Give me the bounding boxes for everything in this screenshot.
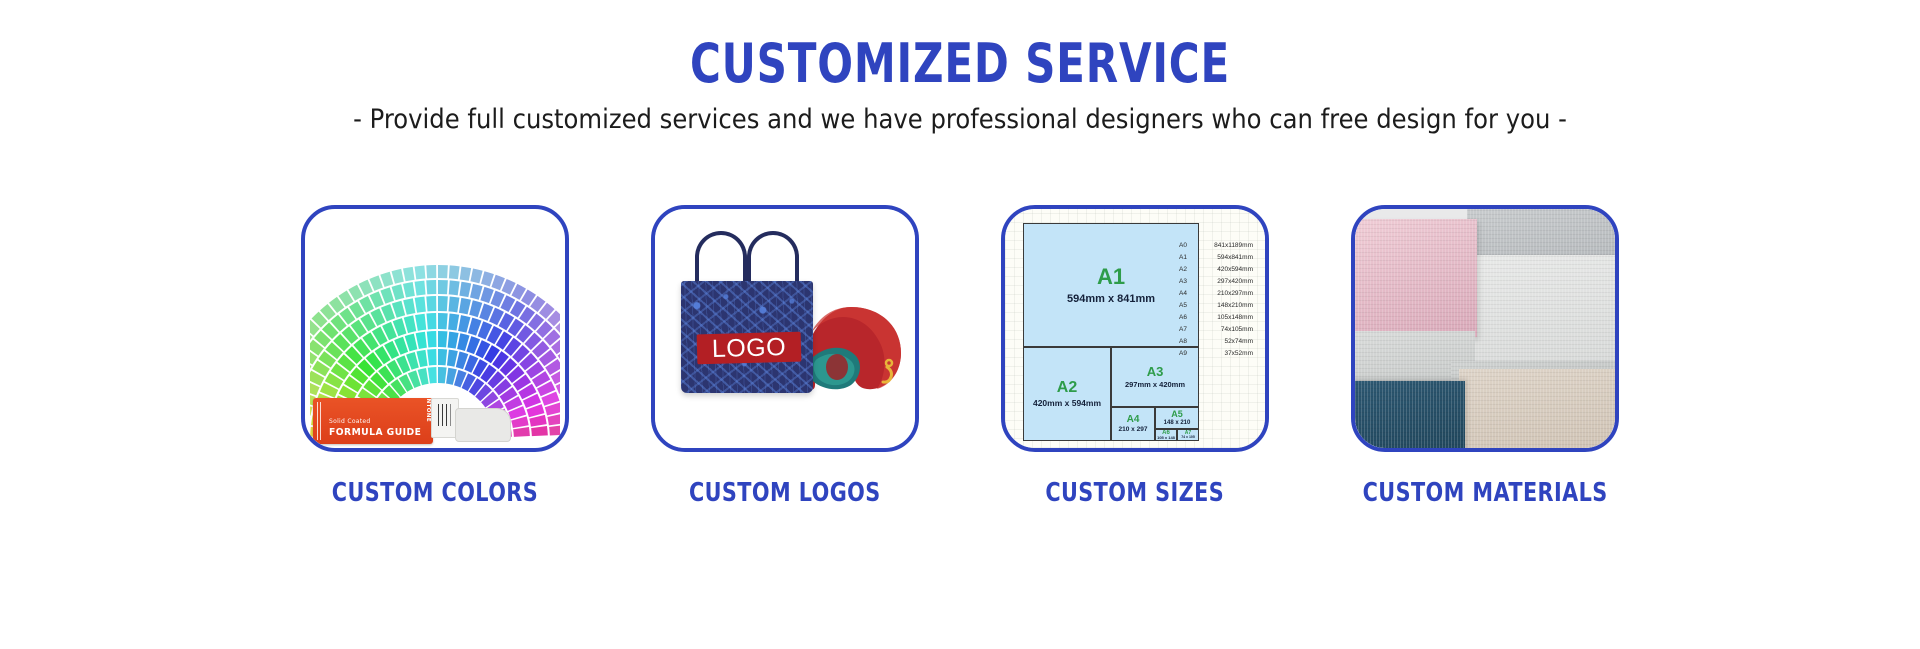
card-label-custom-sizes: CUSTOM SIZES [1046,478,1225,508]
bag-scene: LOGO [655,209,915,448]
legend-code: A3 [1179,279,1195,286]
customized-service-banner: CUSTOMIZED SERVICE - Provide full custom… [0,0,1920,649]
logo-text: LOGO [712,335,787,362]
bag-handle-left-icon [695,231,747,285]
guide-title: FORMULA GUIDE [329,427,421,438]
legend-row-a1: A1594x841mm [1179,255,1253,262]
neck-pillow-icon [797,301,905,393]
legend-size: 105x148mm [1195,315,1253,322]
card-frame-custom-materials[interactable] [1351,205,1619,452]
legend-row-a3: A3297x420mm [1179,279,1253,286]
paper-scene: A1 594mm x 841mm A2 420mm x 594mm A3 297… [1005,209,1265,448]
legend-size: 37x52mm [1195,351,1253,358]
paper-box-a4-dim: 210 x 297 [1119,427,1148,434]
legend-size: 420x594mm [1195,267,1253,274]
paper-box-a2: A2 420mm x 594mm [1023,347,1111,441]
fabric-swatches-image [1355,209,1615,448]
bag-handle-right-icon [747,231,799,285]
fan-deck-base [455,408,511,442]
paper-box-a1-name: A1 [1097,266,1125,288]
legend-size: 52x74mm [1195,339,1253,346]
paper-box-a1-dim: 594mm x 841mm [1067,294,1155,305]
paper-box-a5: A5 148 x 210 [1155,407,1199,429]
fabric-swatch-white [1463,255,1615,373]
paper-box-a4-name: A4 [1127,415,1140,425]
card-custom-logos[interactable]: LOGO CUSTOM LOGOS [651,205,919,508]
paper-box-a6-dim: 105 x 148 [1157,436,1175,440]
card-label-custom-logos: CUSTOM LOGOS [689,478,881,508]
tote-bag-body: LOGO [681,281,813,393]
legend-code: A8 [1179,339,1195,346]
legend-size: 297x420mm [1195,279,1253,286]
paper-box-a2-dim: 420mm x 594mm [1033,399,1101,408]
legend-code: A2 [1179,267,1195,274]
paper-box-a2-name: A2 [1057,380,1077,396]
paper-box-a4: A4 210 x 297 [1111,407,1155,441]
legend-size: 74x105mm [1195,327,1253,334]
fabric-swatch-beige [1459,369,1615,448]
logo-badge: LOGO [697,332,802,365]
formula-guide-label: Solid Coated FORMULA GUIDE [313,398,433,444]
page-subtitle: - Provide full customized services and w… [96,104,1824,135]
paper-box-a7: A7 74 x 105 [1177,429,1199,441]
legend-row-a8: A852x74mm [1179,339,1253,346]
legend-row-a0: A0841x1189mm [1179,243,1253,250]
banner-header: CUSTOMIZED SERVICE - Provide full custom… [0,0,1920,135]
legend-code: A9 [1179,351,1195,358]
legend-code: A4 [1179,291,1195,298]
legend-row-a2: A2420x594mm [1179,267,1253,274]
legend-size: 148x210mm [1195,303,1253,310]
legend-row-a9: A937x52mm [1179,351,1253,358]
barcode-lines-icon [317,402,323,440]
legend-row-a7: A774x105mm [1179,327,1253,334]
legend-size: 841x1189mm [1195,243,1253,250]
guide-subtitle: Solid Coated [329,418,371,425]
fabric-scene [1355,209,1615,448]
tote-bag-image: LOGO [655,209,915,448]
card-label-custom-colors: CUSTOM COLORS [332,478,538,508]
paper-box-a7-dim: 74 x 105 [1181,436,1195,440]
feature-card-row: Solid Coated FORMULA GUIDE PANTONE CUSTO… [0,205,1920,508]
paper-size-legend: A0841x1189mmA1594x841mmA2420x594mmA3297x… [1179,243,1253,358]
card-label-custom-materials: CUSTOM MATERIALS [1363,478,1608,508]
paper-size-diagram: A1 594mm x 841mm A2 420mm x 594mm A3 297… [1023,223,1199,441]
legend-size: 594x841mm [1195,255,1253,262]
pantone-fan-image: Solid Coated FORMULA GUIDE PANTONE [305,209,565,448]
fabric-swatch-navy [1355,381,1465,448]
fabric-swatch-pink [1355,219,1477,337]
card-frame-custom-colors[interactable]: Solid Coated FORMULA GUIDE PANTONE [301,205,569,452]
card-custom-materials[interactable]: CUSTOM MATERIALS [1351,205,1619,508]
paper-box-a6: A6 105 x 148 [1155,429,1177,441]
paper-size-chart-image: A1 594mm x 841mm A2 420mm x 594mm A3 297… [1005,209,1265,448]
legend-code: A0 [1179,243,1195,250]
legend-code: A7 [1179,327,1195,334]
legend-size: 210x297mm [1195,291,1253,298]
paper-box-a3-dim: 297mm x 420mm [1125,381,1185,389]
card-frame-custom-logos[interactable]: LOGO [651,205,919,452]
card-custom-colors[interactable]: Solid Coated FORMULA GUIDE PANTONE CUSTO… [301,205,569,508]
legend-row-a4: A4210x297mm [1179,291,1253,298]
paper-box-a3-name: A3 [1147,365,1164,378]
paper-box-a1: A1 594mm x 841mm [1023,223,1199,347]
legend-row-a5: A5148x210mm [1179,303,1253,310]
legend-row-a6: A6105x148mm [1179,315,1253,322]
legend-code: A5 [1179,303,1195,310]
card-frame-custom-sizes[interactable]: A1 594mm x 841mm A2 420mm x 594mm A3 297… [1001,205,1269,452]
paper-box-a5-dim: 148 x 210 [1164,420,1191,426]
paper-box-a5-name: A5 [1171,410,1183,419]
tab-marks-icon [438,404,439,426]
page-title: CUSTOMIZED SERVICE [211,36,1709,92]
legend-code: A1 [1179,255,1195,262]
legend-code: A6 [1179,315,1195,322]
card-custom-sizes[interactable]: A1 594mm x 841mm A2 420mm x 594mm A3 297… [1001,205,1269,508]
